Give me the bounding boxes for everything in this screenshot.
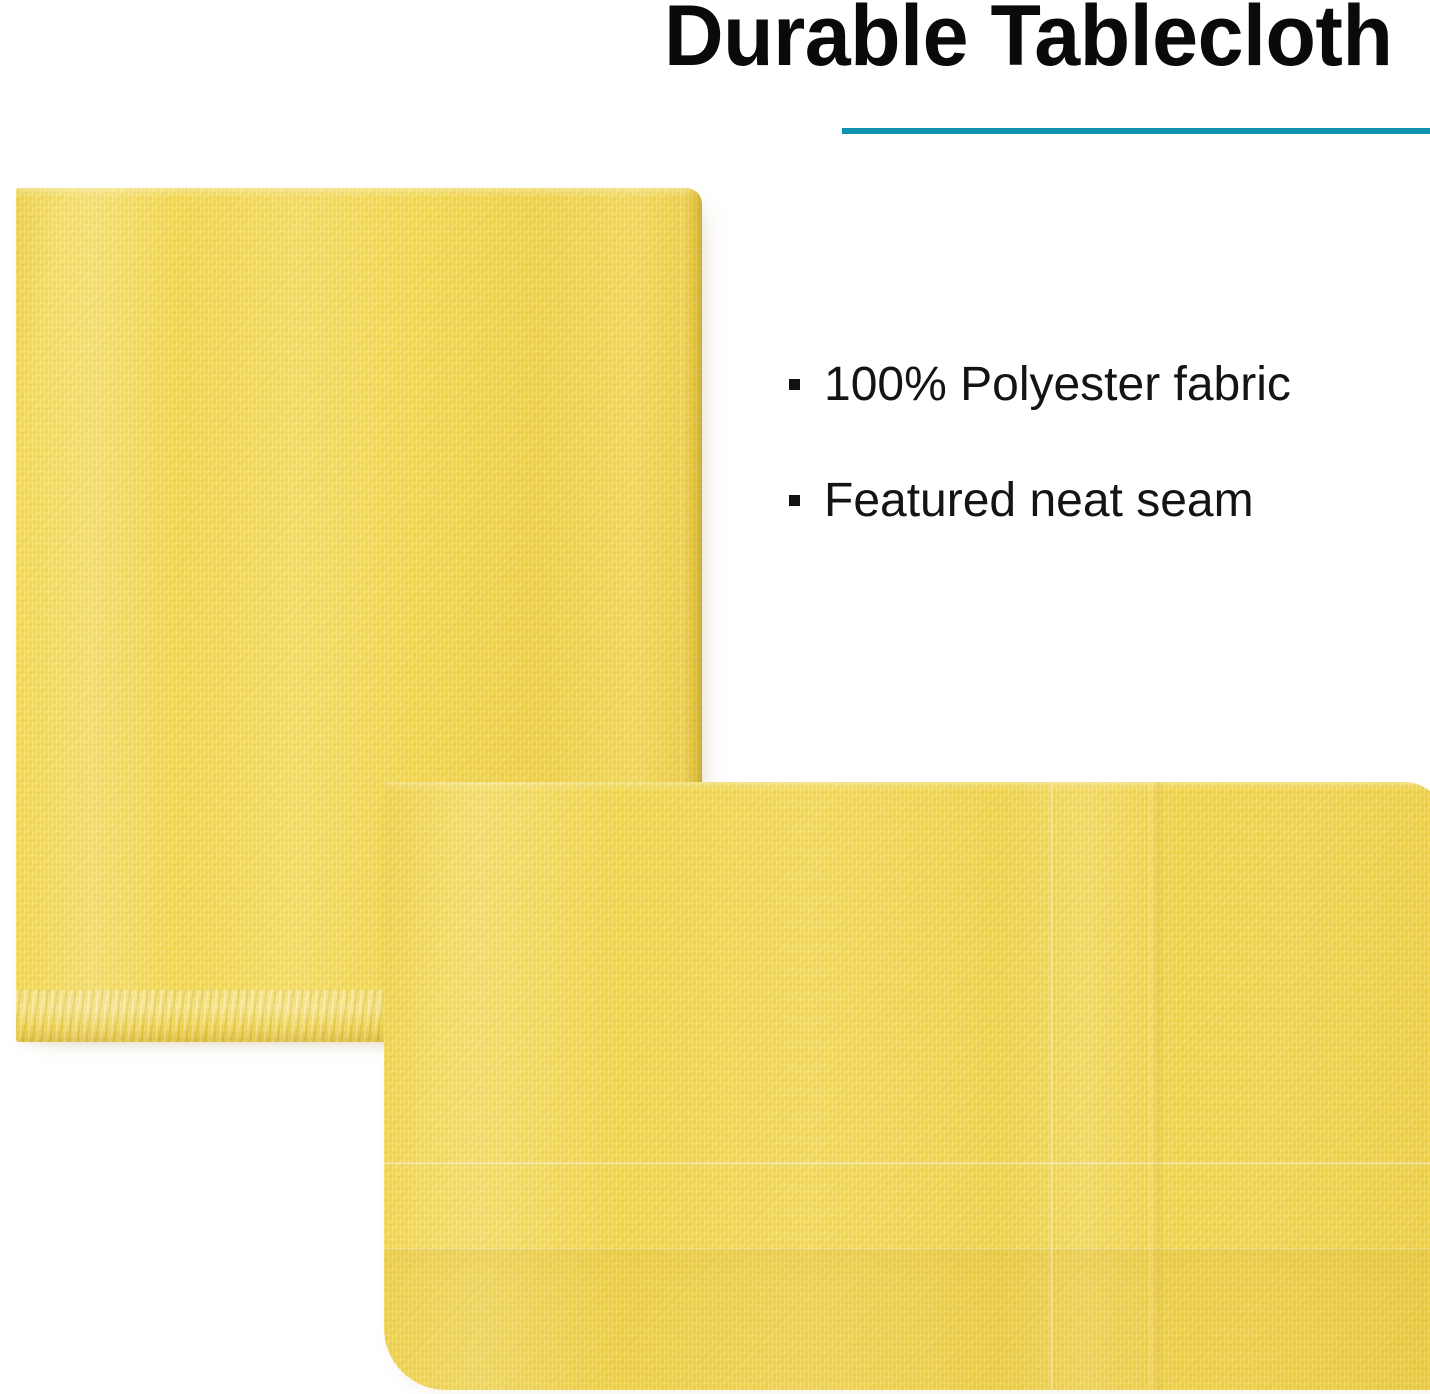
vertical-hem-stitch: [1050, 782, 1053, 1390]
fabric-sheen-overlay: [384, 782, 1430, 1390]
product-infographic-canvas: Durable Tablecloth 100% Polyester fabric…: [0, 0, 1430, 1394]
feature-label: 100% Polyester fabric: [824, 355, 1291, 415]
list-item: Featured neat seam: [786, 471, 1416, 587]
fabric-weave-texture-vertical: [384, 782, 1430, 1390]
fabric-top-edge-highlight: [384, 782, 1430, 790]
square-bullet-icon: [789, 379, 800, 390]
fabric-top-edge-highlight: [16, 188, 702, 198]
page-title: Durable Tablecloth: [664, 0, 1413, 84]
horizontal-hem-stitch: [384, 1162, 1430, 1165]
list-item: 100% Polyester fabric: [786, 355, 1416, 471]
hem-fold-line: [384, 1248, 1430, 1251]
flat-tablecloth-corner: [384, 782, 1430, 1390]
accent-rule: [842, 128, 1430, 134]
square-bullet-icon: [789, 495, 800, 506]
vertical-hem-fold: [1149, 782, 1163, 1390]
fabric-twill-texture-diagonal: [384, 782, 1430, 1390]
feature-label: Featured neat seam: [824, 471, 1254, 531]
hem-fold-band: [384, 1250, 1430, 1390]
feature-list: 100% Polyester fabric Featured neat seam: [786, 355, 1416, 587]
